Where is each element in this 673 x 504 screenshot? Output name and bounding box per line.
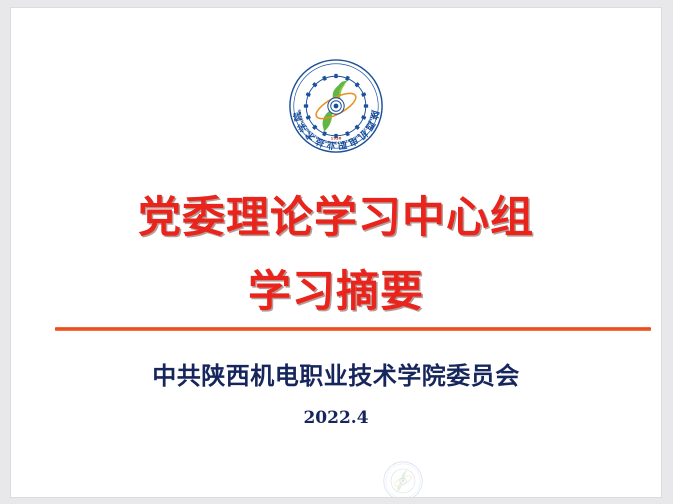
school-emblem-watermark xyxy=(383,461,423,497)
school-emblem-watermark-icon xyxy=(383,461,423,497)
slide-subtitle-block: 中共陕西机电职业技术学院委员会 2022.4 xyxy=(11,360,661,428)
title-line-1: 党委理论学习中心组 xyxy=(11,186,661,250)
title-line-2: 学习摘要 xyxy=(11,260,661,324)
slide-title: 党委理论学习中心组 学习摘要 xyxy=(11,186,661,324)
organization-name: 中共陕西机电职业技术学院委员会 xyxy=(11,360,661,392)
school-emblem-icon: 陕西机电职业技术学院 SHAANXI INSTITUTE OF MECHATRO… xyxy=(288,58,384,154)
slide-date: 2022.4 xyxy=(11,408,661,428)
logo-container: 陕西机电职业技术学院 SHAANXI INSTITUTE OF MECHATRO… xyxy=(11,58,661,154)
divider-rule xyxy=(55,327,651,331)
svg-text:1936: 1936 xyxy=(331,136,342,141)
slide-viewer: 陕西机电职业技术学院 SHAANXI INSTITUTE OF MECHATRO… xyxy=(0,0,673,504)
presentation-slide[interactable]: 陕西机电职业技术学院 SHAANXI INSTITUTE OF MECHATRO… xyxy=(11,8,661,497)
